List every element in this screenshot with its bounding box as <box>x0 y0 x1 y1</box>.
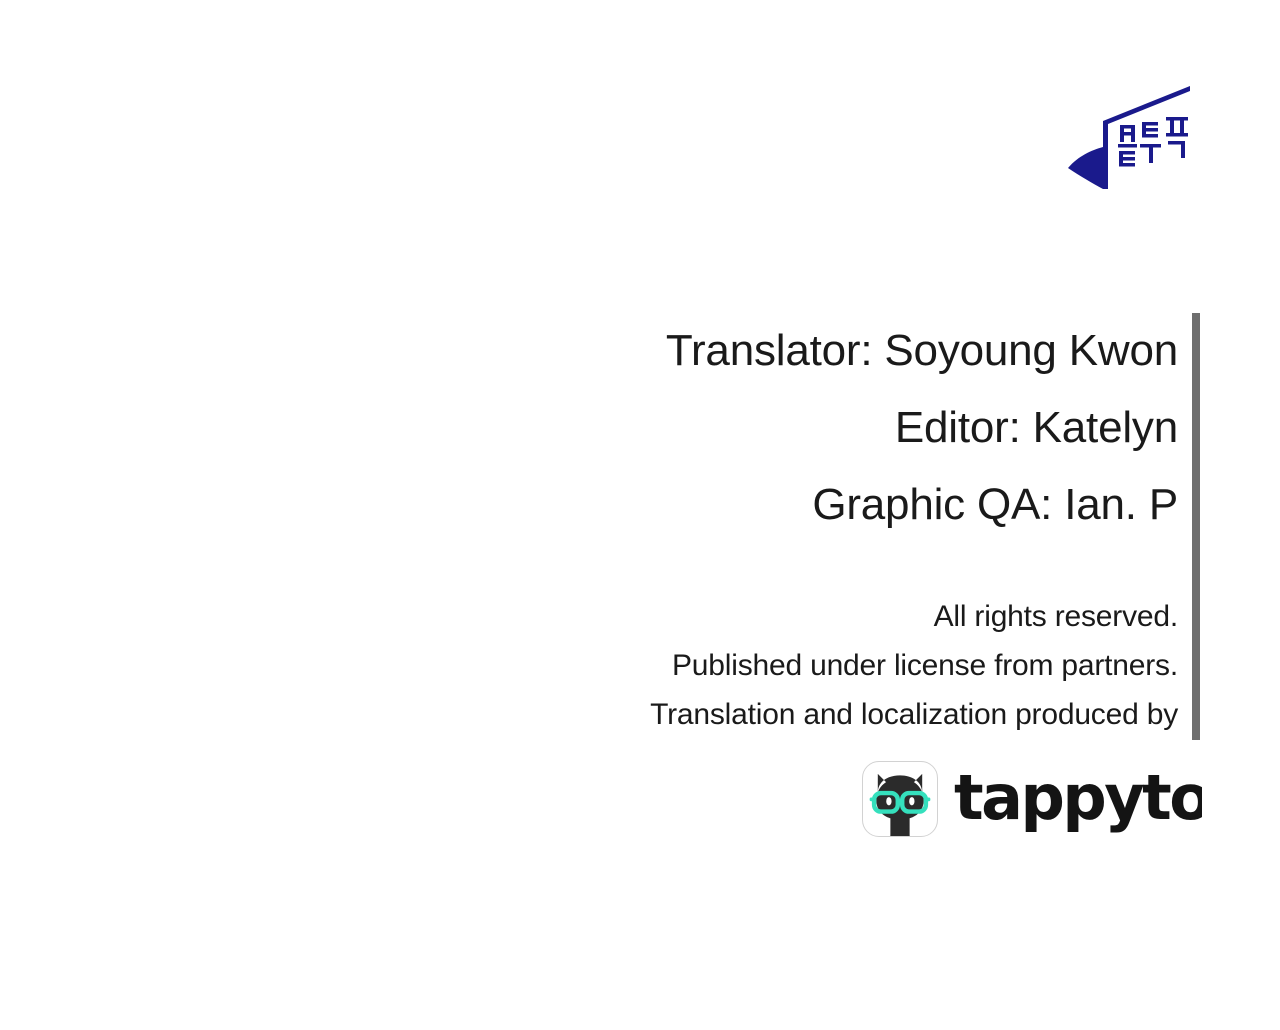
license-line-rights: All rights reserved. <box>360 592 1178 641</box>
credits-block: Translator: Soyoung Kwon Editor: Katelyn… <box>360 312 1178 543</box>
credit-line-editor: Editor: Katelyn <box>360 389 1178 466</box>
license-block: All rights reserved. Published under lic… <box>360 592 1178 739</box>
credit-line-graphic-qa: Graphic QA: Ian. P <box>360 466 1178 543</box>
publisher-logo <box>1062 84 1202 196</box>
tappytoon-cat-icon <box>862 761 938 837</box>
pennant-shape <box>1068 147 1103 189</box>
license-line-produced-by: Translation and localization produced by <box>360 690 1178 739</box>
tappytoon-wordmark-text: tappytoon <box>954 761 1202 834</box>
cat-left-eye <box>886 797 891 805</box>
license-line-published: Published under license from partners. <box>360 641 1178 690</box>
tappytoon-wordmark: tappytoon <box>954 761 1202 837</box>
tappytoon-brand-lockup: tappytoon <box>862 758 1202 840</box>
cat-body-shape <box>890 814 909 836</box>
cat-right-eye <box>909 797 914 805</box>
vertical-rule <box>1192 313 1200 740</box>
credit-line-translator: Translator: Soyoung Kwon <box>360 312 1178 389</box>
bluepic-korean-wordmark <box>1118 117 1188 167</box>
